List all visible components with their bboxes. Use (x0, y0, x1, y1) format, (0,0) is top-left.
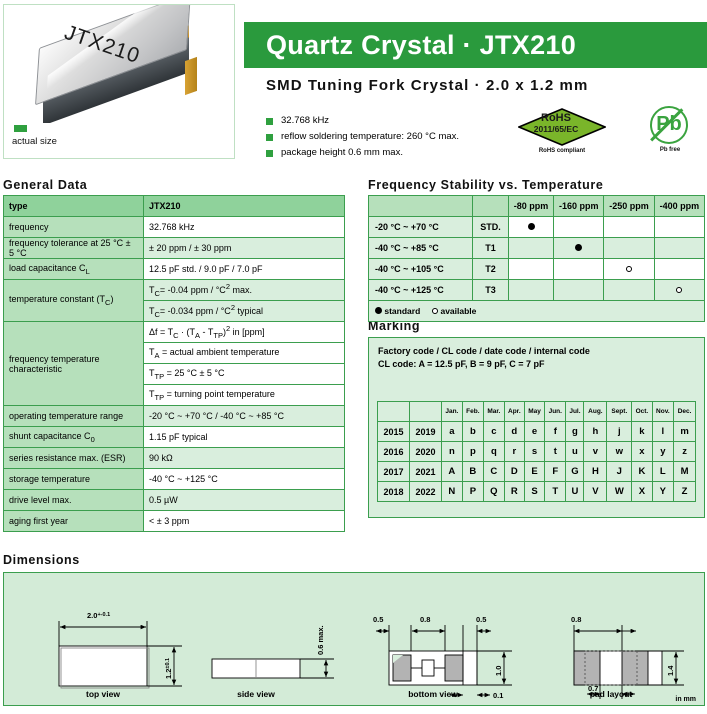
dimensions-box: 2.0+-0.1 1.2±0.1 0.6 max. 0.5 0.8 0.5 1.… (3, 572, 705, 706)
row-label: series resistance max. (ESR) (4, 448, 144, 469)
date-code-cell: F (545, 462, 566, 482)
bullet-label: 32.768 kHz (281, 115, 329, 126)
rohs-line2: 2011/65/EC (512, 124, 600, 134)
date-code-cell: j (607, 422, 632, 442)
bottom-view-dim-3: 0.5 (476, 615, 486, 624)
pb-free-badge: Pb Pb free (642, 106, 698, 158)
side-view-drawing (212, 659, 334, 678)
table-header-row: Jan. Feb. Mar. Apr. May Jun. Jul. Aug. S… (378, 402, 696, 422)
row-value: 1.15 pF typical (144, 427, 345, 448)
date-code-cell: s (524, 442, 544, 462)
year-cell: 2021 (410, 462, 442, 482)
row-value: TA = actual ambient temperature (144, 343, 345, 364)
date-code-cell: t (545, 442, 566, 462)
row-value: TTP = turning point temperature (144, 385, 345, 406)
column-header: -160 ppm (554, 196, 604, 217)
general-data-table: type JTX210 frequency 32.768 kHz frequen… (3, 195, 345, 532)
temperature-range: -40 °C ~ +85 °C (369, 238, 473, 259)
table-row: 2018 2022 N P Q R S T U V W X Y Z (378, 482, 696, 502)
date-code-cell: f (545, 422, 566, 442)
rohs-compliant-badge: RoHS 2011/65/EC RoHS compliant (512, 108, 612, 158)
stability-cell (509, 280, 554, 301)
option-code: T3 (473, 280, 509, 301)
row-label: temperature constant (TC) (4, 280, 144, 322)
date-code-cell: L (652, 462, 674, 482)
date-code-cell: r (504, 442, 524, 462)
top-view-caption: top view (86, 689, 120, 699)
available-circle-icon (676, 287, 682, 293)
standard-dot-icon (528, 223, 535, 230)
dimension-drawings: 2.0+-0.1 1.2±0.1 0.6 max. 0.5 0.8 0.5 1.… (4, 573, 704, 705)
stability-cell (604, 238, 654, 259)
standard-dot-icon (375, 307, 382, 314)
page-subtitle: SMD Tuning Fork Crystal · 2.0 x 1.2 mm (266, 77, 588, 94)
date-code-cell: H (584, 462, 607, 482)
year-cell: 2015 (378, 422, 410, 442)
top-view-width-label: 2.0+-0.1 (87, 611, 110, 620)
date-code-cell: u (566, 442, 584, 462)
option-code: T1 (473, 238, 509, 259)
row-label: shunt capacitance C0 (4, 427, 144, 448)
date-code-cell: k (632, 422, 652, 442)
bottom-view-caption: bottom view (408, 689, 458, 699)
pb-free-caption: Pb free (642, 147, 698, 153)
table-row: temperature constant (TC) TC= -0.04 ppm … (4, 280, 345, 301)
table-row: storage temperature -40 °C ~ +125 °C (4, 469, 345, 490)
product-photo-box: JTX210 actual size (3, 4, 235, 159)
stability-cell (554, 259, 604, 280)
stability-cell (604, 259, 654, 280)
temperature-range: -40 °C ~ +105 °C (369, 259, 473, 280)
table-row: -20 °C ~ +70 °C STD. (369, 217, 705, 238)
date-code-cell: p (462, 442, 483, 462)
row-label: operating temperature range (4, 406, 144, 427)
table-row: frequency temperature characteristic Δf … (4, 322, 345, 343)
table-row: type JTX210 (4, 196, 345, 217)
dimensions-heading: Dimensions (3, 553, 80, 567)
month-header: Sept. (607, 402, 632, 422)
side-view-caption: side view (237, 689, 275, 699)
date-code-table: Jan. Feb. Mar. Apr. May Jun. Jul. Aug. S… (377, 401, 696, 502)
month-header: Aug. (584, 402, 607, 422)
date-code-cell: Z (674, 482, 696, 502)
bottom-view-dim-2: 0.8 (420, 615, 430, 624)
column-header: -80 ppm (509, 196, 554, 217)
table-header-row: -80 ppm -160 ppm -250 ppm -400 ppm (369, 196, 705, 217)
stability-cell (509, 259, 554, 280)
row-value: TTP = 25 °C ± 5 °C (144, 364, 345, 385)
available-circle-icon (432, 308, 438, 314)
date-code-cell: v (584, 442, 607, 462)
date-code-cell: R (504, 482, 524, 502)
row-value: Δf = TC · (TA - TTP)2 in [ppm] (144, 322, 345, 343)
stability-cell (654, 259, 704, 280)
unit-note: in mm (675, 696, 696, 703)
date-code-cell: h (584, 422, 607, 442)
actual-size-label: actual size (12, 136, 57, 147)
date-code-cell: m (674, 422, 696, 442)
date-code-cell: T (545, 482, 566, 502)
table-row: aging first year < ± 3 ppm (4, 511, 345, 532)
date-code-cell: c (484, 422, 505, 442)
blank-header-cell (369, 196, 473, 217)
pad-layout-dim-2: 1.4 (666, 665, 675, 676)
square-bullet-icon (266, 150, 273, 157)
month-header: Apr. (504, 402, 524, 422)
row-value: -40 °C ~ +125 °C (144, 469, 345, 490)
year-cell: 2020 (410, 442, 442, 462)
year-cell: 2017 (378, 462, 410, 482)
row-label: frequency (4, 217, 144, 238)
date-code-cell: x (632, 442, 652, 462)
table-row: -40 °C ~ +125 °C T3 (369, 280, 705, 301)
date-code-cell: B (462, 462, 483, 482)
bullet-label: package height 0.6 mm max. (281, 147, 403, 158)
legend-available-label: available (440, 306, 476, 316)
stability-cell (554, 238, 604, 259)
date-code-cell: Y (652, 482, 674, 502)
stability-cell (604, 280, 654, 301)
stability-cell (604, 217, 654, 238)
table-row: 2015 2019 a b c d e f g h j k l m (378, 422, 696, 442)
row-label: storage temperature (4, 469, 144, 490)
month-header: May (524, 402, 544, 422)
stability-cell (554, 217, 604, 238)
year-cell: 2019 (410, 422, 442, 442)
year-cell: 2018 (378, 482, 410, 502)
year-cell: 2016 (378, 442, 410, 462)
row-value: 0.5 µW (144, 490, 345, 511)
frequency-stability-heading: Frequency Stability vs. Temperature (368, 178, 603, 192)
general-data-heading: General Data (3, 178, 87, 192)
marking-code-format: Factory code / CL code / date code / int… (378, 346, 590, 356)
date-code-cell: M (674, 462, 696, 482)
list-item: 32.768 kHz (266, 115, 516, 128)
row-value: TC= -0.04 ppm / °C2 max. (144, 280, 345, 301)
row-label: type (4, 196, 144, 217)
table-row: frequency 32.768 kHz (4, 217, 345, 238)
blank-header-cell (410, 402, 442, 422)
date-code-cell: U (566, 482, 584, 502)
temperature-range: -20 °C ~ +70 °C (369, 217, 473, 238)
table-row: -40 °C ~ +85 °C T1 (369, 238, 705, 259)
marking-cl-code: CL code: A = 12.5 pF, B = 9 pF, C = 7 pF (378, 359, 544, 369)
rohs-line1: RoHS (512, 112, 600, 124)
column-header: -400 ppm (654, 196, 704, 217)
top-view-height-label: 1.2±0.1 (164, 658, 173, 679)
table-row: operating temperature range -20 °C ~ +70… (4, 406, 345, 427)
blank-header-cell (473, 196, 509, 217)
temperature-range: -40 °C ~ +125 °C (369, 280, 473, 301)
date-code-cell: P (462, 482, 483, 502)
side-view-height-label: 0.6 max. (316, 625, 325, 655)
legend-standard-label: standard (384, 306, 420, 316)
package-gold-pad (185, 57, 197, 95)
bullet-label: reflow soldering temperature: 260 °C max… (281, 131, 459, 142)
table-row: frequency tolerance at 25 °C ± 5 °C ± 20… (4, 238, 345, 259)
date-code-cell: C (484, 462, 505, 482)
stability-cell (509, 238, 554, 259)
table-row: -40 °C ~ +105 °C T2 (369, 259, 705, 280)
pad-layout-caption: pad layout (590, 689, 633, 699)
row-value: < ± 3 ppm (144, 511, 345, 532)
date-code-cell: q (484, 442, 505, 462)
month-header: Jun. (545, 402, 566, 422)
legend: standard available (369, 301, 705, 322)
row-label: aging first year (4, 511, 144, 532)
date-code-cell: V (584, 482, 607, 502)
date-code-cell: n (442, 442, 463, 462)
header-area: JTX210 actual size Quartz Crystal · JTX2… (0, 0, 707, 172)
month-header: Nov. (652, 402, 674, 422)
row-label: drive level max. (4, 490, 144, 511)
stability-cell (554, 280, 604, 301)
table-row: shunt capacitance C0 1.15 pF typical (4, 427, 345, 448)
blank-header-cell (378, 402, 410, 422)
table-row: load capacitance CL 12.5 pF std. / 9.0 p… (4, 259, 345, 280)
bottom-view-drawing (376, 625, 512, 695)
feature-bullet-list: 32.768 kHz reflow soldering temperature:… (266, 115, 516, 163)
row-value: 12.5 pF std. / 9.0 pF / 7.0 pF (144, 259, 345, 280)
table-row: drive level max. 0.5 µW (4, 490, 345, 511)
date-code-cell: d (504, 422, 524, 442)
column-header: -250 ppm (604, 196, 654, 217)
stability-cell (509, 217, 554, 238)
bottom-view-dim-1: 0.5 (373, 615, 383, 624)
month-header: Oct. (632, 402, 652, 422)
row-label: frequency temperature characteristic (4, 322, 144, 406)
row-value: ± 20 ppm / ± 30 ppm (144, 238, 345, 259)
option-code: T2 (473, 259, 509, 280)
date-code-cell: Q (484, 482, 505, 502)
date-code-cell: E (524, 462, 544, 482)
table-row: 2017 2021 A B C D E F G H J K L M (378, 462, 696, 482)
table-row: 2016 2020 n p q r s t u v w x y z (378, 442, 696, 462)
rohs-caption: RoHS compliant (512, 148, 612, 154)
month-header: Jul. (566, 402, 584, 422)
list-item: reflow soldering temperature: 260 °C max… (266, 131, 516, 144)
pad-layout-dim-1: 0.8 (571, 615, 581, 624)
actual-size-marker (14, 125, 27, 132)
date-code-cell: D (504, 462, 524, 482)
stability-cell (654, 217, 704, 238)
title-banner: Quartz Crystal · JTX210 (244, 22, 707, 68)
date-code-cell: S (524, 482, 544, 502)
table-row: series resistance max. (ESR) 90 kΩ (4, 448, 345, 469)
date-code-cell: l (652, 422, 674, 442)
list-item: package height 0.6 mm max. (266, 147, 516, 160)
date-code-cell: W (607, 482, 632, 502)
date-code-cell: K (632, 462, 652, 482)
row-value: -20 °C ~ +70 °C / -40 °C ~ +85 °C (144, 406, 345, 427)
product-photo: JTX210 (4, 5, 234, 123)
square-bullet-icon (266, 134, 273, 141)
option-code: STD. (473, 217, 509, 238)
date-code-cell: w (607, 442, 632, 462)
month-header: Feb. (462, 402, 483, 422)
year-cell: 2022 (410, 482, 442, 502)
month-header: Dec. (674, 402, 696, 422)
row-label: load capacitance CL (4, 259, 144, 280)
date-code-cell: J (607, 462, 632, 482)
standard-dot-icon (575, 244, 582, 251)
date-code-cell: N (442, 482, 463, 502)
frequency-stability-table: -80 ppm -160 ppm -250 ppm -400 ppm -20 °… (368, 195, 705, 322)
crystal-package-illustration: JTX210 (37, 19, 197, 111)
date-code-cell: e (524, 422, 544, 442)
stability-cell (654, 280, 704, 301)
date-code-cell: z (674, 442, 696, 462)
date-code-cell: A (442, 462, 463, 482)
bottom-view-dim-5: 0.1 (493, 691, 503, 700)
row-label: frequency tolerance at 25 °C ± 5 °C (4, 238, 144, 259)
date-code-cell: a (442, 422, 463, 442)
date-code-cell: g (566, 422, 584, 442)
available-circle-icon (626, 266, 632, 272)
row-value: 32.768 kHz (144, 217, 345, 238)
table-legend-row: standard available (369, 301, 705, 322)
month-header: Mar. (484, 402, 505, 422)
row-value: JTX210 (144, 196, 345, 217)
month-header: Jan. (442, 402, 463, 422)
date-code-cell: G (566, 462, 584, 482)
bottom-view-dim-4: 1.0 (494, 666, 503, 676)
date-code-cell: X (632, 482, 652, 502)
date-code-cell: y (652, 442, 674, 462)
square-bullet-icon (266, 118, 273, 125)
date-code-cell: b (462, 422, 483, 442)
row-value: TC= -0.034 ppm / °C2 typical (144, 301, 345, 322)
stability-cell (654, 238, 704, 259)
page-title: Quartz Crystal · JTX210 (266, 30, 576, 61)
row-value: 90 kΩ (144, 448, 345, 469)
